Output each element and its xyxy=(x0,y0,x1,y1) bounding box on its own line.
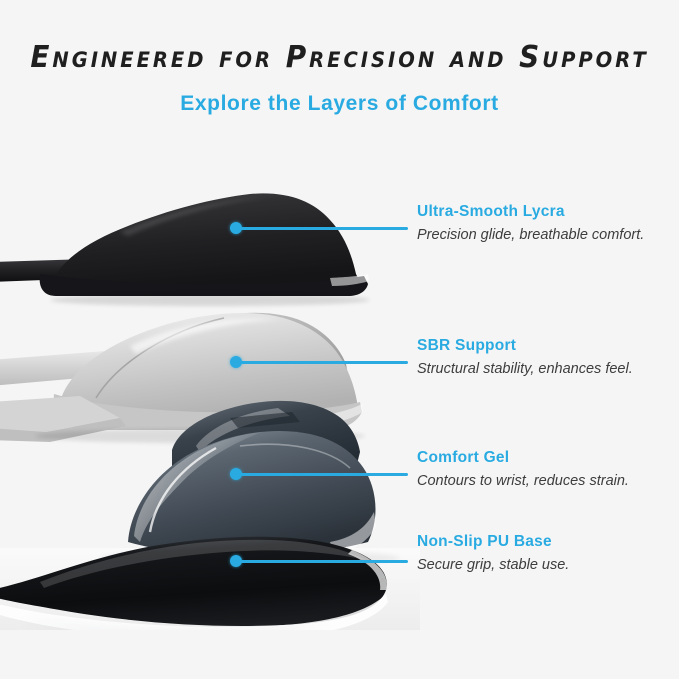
lycra-top-layer xyxy=(0,193,370,306)
callout-1-desc: Precision glide, breathable comfort. xyxy=(417,226,679,245)
callout-4-title: Non-Slip PU Base xyxy=(417,533,679,552)
callout-3-title: Comfort Gel xyxy=(417,449,679,468)
callout-4-desc: Secure grip, stable use. xyxy=(417,556,679,575)
leader-dot-2 xyxy=(230,356,242,368)
callout-3-text: Comfort Gel Contours to wrist, reduces s… xyxy=(417,449,679,491)
pu-base-layer xyxy=(0,537,420,630)
callout-2-text: SBR Support Structural stability, enhanc… xyxy=(417,337,679,379)
leader-line-4 xyxy=(236,560,408,563)
leader-line-1 xyxy=(236,227,408,230)
callout-1-title: Ultra-Smooth Lycra xyxy=(417,203,679,222)
leader-line-2 xyxy=(236,361,408,364)
callout-3-desc: Contours to wrist, reduces strain. xyxy=(417,472,679,491)
infographic-root: Engineered for Precision and Support Exp… xyxy=(0,0,679,679)
callout-2-title: SBR Support xyxy=(417,337,679,356)
page-subtitle: Explore the Layers of Comfort xyxy=(0,92,679,116)
product-layer-stack-image xyxy=(0,150,420,630)
leader-line-3 xyxy=(236,473,408,476)
callout-4-text: Non-Slip PU Base Secure grip, stable use… xyxy=(417,533,679,575)
header: Engineered for Precision and Support Exp… xyxy=(0,0,679,140)
leader-dot-3 xyxy=(230,468,242,480)
leader-dot-1 xyxy=(230,222,242,234)
page-title: Engineered for Precision and Support xyxy=(24,40,655,75)
callout-2-desc: Structural stability, enhances feel. xyxy=(417,360,679,379)
callout-1-text: Ultra-Smooth Lycra Precision glide, brea… xyxy=(417,203,679,245)
leader-dot-4 xyxy=(230,555,242,567)
